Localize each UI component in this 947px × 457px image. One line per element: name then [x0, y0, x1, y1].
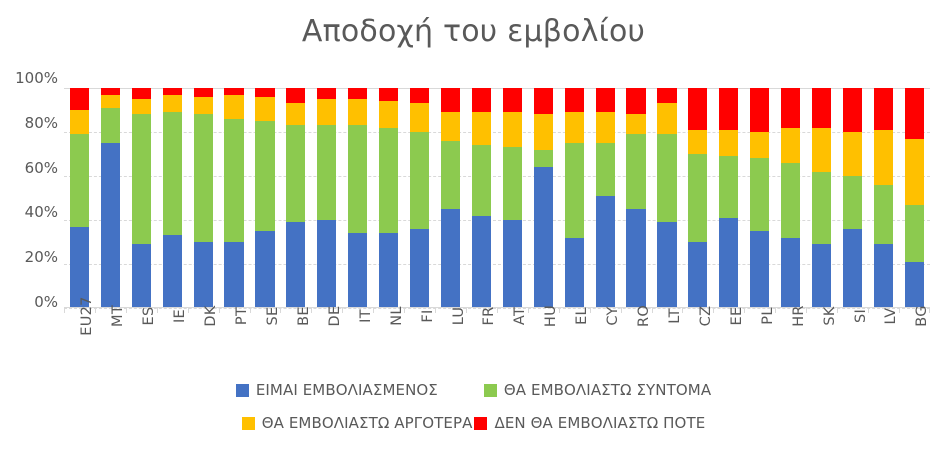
bar-stack[interactable] — [688, 88, 707, 308]
legend-row-bottom: ΘΑ ΕΜΒΟΛΙΑΣΤΩ ΑΡΓΟΤΕΡΑΔΕΝ ΘΑ ΕΜΒΟΛΙΑΣΤΩ … — [0, 414, 947, 432]
bar-segment[interactable] — [874, 130, 893, 185]
bar-segment[interactable] — [441, 141, 460, 209]
bar-segment[interactable] — [534, 150, 553, 168]
bar-segment[interactable] — [843, 132, 862, 176]
bar-segment[interactable] — [132, 244, 151, 308]
bar-segment[interactable] — [812, 172, 831, 245]
bar-segment[interactable] — [719, 218, 738, 308]
x-label-cell: CZ — [682, 314, 713, 374]
x-tick-label: BG — [914, 305, 930, 327]
bar-segment[interactable] — [348, 233, 367, 308]
bar-column[interactable] — [466, 88, 497, 308]
bar-segment[interactable] — [132, 99, 151, 114]
bar-column[interactable] — [713, 88, 744, 308]
x-label-cell: NL — [373, 314, 404, 374]
bar-segment[interactable] — [503, 147, 522, 220]
bar-stack[interactable] — [410, 88, 429, 308]
bar-segment[interactable] — [379, 88, 398, 101]
bar-column[interactable] — [250, 88, 281, 308]
bar-segment[interactable] — [224, 88, 243, 95]
bar-segment[interactable] — [874, 185, 893, 244]
x-tick-label: PL — [760, 307, 776, 324]
bar-segment[interactable] — [719, 88, 738, 130]
bar-segment[interactable] — [472, 216, 491, 308]
bar-segment[interactable] — [441, 88, 460, 112]
x-tick-label: EE — [729, 307, 745, 326]
bar-segment[interactable] — [657, 222, 676, 308]
bar-column[interactable] — [682, 88, 713, 308]
legend-item[interactable]: ΘΑ ΕΜΒΟΛΙΑΣΤΩ ΑΡΓΟΤΕΡΑ — [242, 414, 473, 432]
chart-legend: ΕΙΜΑΙ ΕΜΒΟΛΙΑΣΜΕΝΟΣΘΑ ΕΜΒΟΛΙΑΣΤΩ ΣΥΝΤΟΜΑ… — [0, 381, 947, 453]
x-tick-label: CZ — [698, 306, 714, 327]
bar-segment[interactable] — [781, 163, 800, 238]
x-label-cell: AT — [497, 314, 528, 374]
bar-segment[interactable] — [750, 158, 769, 231]
bar-stack[interactable] — [348, 88, 367, 308]
x-tick-label: DK — [203, 305, 219, 326]
plot-area — [64, 88, 930, 308]
bar-segment[interactable] — [472, 88, 491, 112]
bar-segment[interactable] — [286, 125, 305, 222]
bar-segment[interactable] — [255, 97, 274, 121]
bar-segment[interactable] — [410, 132, 429, 229]
x-label-cell: LT — [652, 314, 683, 374]
bar-segment[interactable] — [596, 112, 615, 143]
bar-stack[interactable] — [781, 88, 800, 308]
bar-column[interactable] — [868, 88, 899, 308]
legend-label: ΘΑ ΕΜΒΟΛΙΑΣΤΩ ΑΡΓΟΤΕΡΑ — [262, 414, 473, 432]
bar-column[interactable] — [528, 88, 559, 308]
legend-item[interactable]: ΔΕΝ ΘΑ ΕΜΒΟΛΙΑΣΤΩ ΠΟΤΕ — [474, 414, 705, 432]
bar-segment[interactable] — [255, 88, 274, 97]
x-label-cell: EE — [713, 314, 744, 374]
bar-column[interactable] — [64, 88, 95, 308]
bar-segment[interactable] — [410, 88, 429, 103]
legend-label: ΕΙΜΑΙ ΕΜΒΟΛΙΑΣΜΕΝΟΣ — [256, 381, 438, 399]
legend-swatch-icon — [484, 384, 497, 397]
x-label-cell: SI — [837, 314, 868, 374]
bar-column[interactable] — [404, 88, 435, 308]
x-tick-label: BE — [296, 306, 312, 326]
bar-column[interactable] — [590, 88, 621, 308]
x-label-cell: PL — [744, 314, 775, 374]
x-tick-label: MT — [110, 305, 126, 327]
bar-segment[interactable] — [163, 112, 182, 235]
x-tick-label: FR — [481, 306, 497, 325]
bar-segment[interactable] — [626, 134, 645, 209]
bar-segment[interactable] — [565, 112, 584, 143]
bar-segment[interactable] — [596, 143, 615, 196]
x-tick-label: HR — [791, 305, 807, 327]
x-tick-label: EU27 — [79, 296, 95, 335]
bar-segment[interactable] — [905, 88, 924, 139]
bar-segment[interactable] — [688, 242, 707, 308]
bar-stack[interactable] — [534, 88, 553, 308]
legend-swatch-icon — [236, 384, 249, 397]
legend-label: ΔΕΝ ΘΑ ΕΜΒΟΛΙΑΣΤΩ ΠΟΤΕ — [494, 414, 705, 432]
bar-segment[interactable] — [657, 134, 676, 222]
x-tick-label: FI — [420, 309, 436, 322]
x-label-cell: CY — [590, 314, 621, 374]
bar-segment[interactable] — [503, 220, 522, 308]
x-label-cell: LV — [868, 314, 899, 374]
bar-stack[interactable] — [750, 88, 769, 308]
bar-stack[interactable] — [719, 88, 738, 308]
x-label-cell: MT — [95, 314, 126, 374]
x-label-cell: PT — [219, 314, 250, 374]
bar-column[interactable] — [806, 88, 837, 308]
x-tick-label: ES — [141, 307, 157, 326]
x-tick-label: AT — [512, 307, 528, 325]
bar-segment[interactable] — [348, 99, 367, 125]
x-label-cell: DK — [188, 314, 219, 374]
x-label-cell: ES — [126, 314, 157, 374]
bar-segment[interactable] — [534, 114, 553, 149]
bar-segment[interactable] — [812, 128, 831, 172]
bar-segment[interactable] — [596, 88, 615, 112]
bar-column[interactable] — [95, 88, 126, 308]
y-tick-label: 0% — [34, 293, 58, 311]
bar-segment[interactable] — [843, 176, 862, 229]
legend-swatch-icon — [242, 417, 255, 430]
bar-column[interactable] — [559, 88, 590, 308]
bar-stack[interactable] — [286, 88, 305, 308]
y-tick-label: 100% — [15, 69, 58, 87]
bar-segment[interactable] — [534, 88, 553, 114]
bar-segment[interactable] — [194, 114, 213, 242]
bar-segment[interactable] — [441, 209, 460, 308]
bar-column[interactable] — [497, 88, 528, 308]
x-tick-label: IT — [358, 309, 374, 323]
x-tick-label: LU — [451, 307, 467, 326]
bar-segment[interactable] — [348, 125, 367, 233]
x-tick-label: LV — [883, 307, 899, 324]
bar-segment[interactable] — [163, 235, 182, 308]
y-axis: 0%20%40%60%80%100% — [6, 78, 58, 302]
x-label-cell: HR — [775, 314, 806, 374]
bar-segment[interactable] — [688, 130, 707, 154]
x-tick-label: EL — [574, 307, 590, 325]
bar-stack[interactable] — [812, 88, 831, 308]
legend-item[interactable]: ΕΙΜΑΙ ΕΜΒΟΛΙΑΣΜΕΝΟΣ — [236, 381, 438, 399]
x-tick-label: HU — [543, 305, 559, 327]
bar-segment[interactable] — [688, 88, 707, 130]
bar-segment[interactable] — [286, 103, 305, 125]
bar-segment[interactable] — [688, 154, 707, 242]
bar-segment[interactable] — [132, 88, 151, 99]
bar-segment[interactable] — [255, 121, 274, 231]
x-label-cell: BE — [280, 314, 311, 374]
bar-segment[interactable] — [163, 95, 182, 113]
legend-label: ΘΑ ΕΜΒΟΛΙΑΣΤΩ ΣΥΝΤΟΜΑ — [504, 381, 711, 399]
bar-segment[interactable] — [348, 88, 367, 99]
bar-segment[interactable] — [657, 88, 676, 103]
bar-stack[interactable] — [565, 88, 584, 308]
bar-segment[interactable] — [534, 167, 553, 308]
bar-segment[interactable] — [626, 88, 645, 114]
x-tick-label: LT — [667, 308, 683, 324]
bars-layer — [64, 88, 930, 308]
bar-segment[interactable] — [503, 112, 522, 147]
bar-stack[interactable] — [472, 88, 491, 308]
bar-segment[interactable] — [317, 88, 336, 99]
x-tick-label: SE — [265, 307, 281, 326]
x-label-cell: IT — [342, 314, 373, 374]
y-tick-label: 40% — [25, 203, 58, 221]
chart-container: Αποδοχή του εμβολίου 0%20%40%60%80%100% … — [0, 0, 947, 457]
y-tick-label: 80% — [25, 114, 58, 132]
x-label-cell: SK — [806, 314, 837, 374]
bar-segment[interactable] — [781, 238, 800, 308]
bar-column[interactable] — [311, 88, 342, 308]
bar-segment[interactable] — [781, 128, 800, 163]
bar-segment[interactable] — [843, 229, 862, 308]
bar-segment[interactable] — [255, 231, 274, 308]
bar-segment[interactable] — [472, 112, 491, 145]
bar-segment[interactable] — [441, 112, 460, 141]
x-label-cell: EU27 — [64, 314, 95, 374]
x-label-cell: RO — [621, 314, 652, 374]
bar-segment[interactable] — [286, 88, 305, 103]
bar-segment[interactable] — [719, 156, 738, 218]
legend-item[interactable]: ΘΑ ΕΜΒΟΛΙΑΣΤΩ ΣΥΝΤΟΜΑ — [484, 381, 711, 399]
bar-segment[interactable] — [286, 222, 305, 308]
bar-segment[interactable] — [750, 132, 769, 158]
bar-segment[interactable] — [379, 128, 398, 234]
bar-segment[interactable] — [596, 196, 615, 308]
x-label-cell: SE — [250, 314, 281, 374]
bar-segment[interactable] — [905, 139, 924, 205]
bar-segment[interactable] — [410, 103, 429, 132]
bar-segment[interactable] — [719, 130, 738, 156]
bar-segment[interactable] — [224, 242, 243, 308]
bar-stack[interactable] — [657, 88, 676, 308]
x-axis-labels: EU27MTESIEDKPTSEBEDEITNLFILUFRATHUELCYRO… — [64, 314, 930, 374]
bar-segment[interactable] — [317, 220, 336, 308]
bar-stack[interactable] — [874, 88, 893, 308]
bar-segment[interactable] — [781, 88, 800, 128]
bar-segment[interactable] — [101, 108, 120, 143]
bar-column[interactable] — [775, 88, 806, 308]
bar-stack[interactable] — [255, 88, 274, 308]
legend-row-top: ΕΙΜΑΙ ΕΜΒΟΛΙΑΣΜΕΝΟΣΘΑ ΕΜΒΟΛΙΑΣΤΩ ΣΥΝΤΟΜΑ — [0, 381, 947, 399]
bar-segment[interactable] — [70, 110, 89, 134]
bar-segment[interactable] — [194, 242, 213, 308]
x-label-cell: IE — [157, 314, 188, 374]
x-tick-label: PT — [234, 307, 250, 325]
bar-column[interactable] — [126, 88, 157, 308]
bar-segment[interactable] — [874, 88, 893, 130]
bar-segment[interactable] — [565, 238, 584, 308]
bar-segment[interactable] — [379, 233, 398, 308]
plot-wrapper: 0%20%40%60%80%100% EU27MTESIEDKPTSEBEDEI… — [0, 0, 947, 375]
bar-segment[interactable] — [70, 88, 89, 110]
bar-segment[interactable] — [565, 143, 584, 238]
bar-segment[interactable] — [472, 145, 491, 215]
bar-segment[interactable] — [379, 101, 398, 127]
y-tick-label: 60% — [25, 159, 58, 177]
bar-segment[interactable] — [626, 114, 645, 134]
bar-stack[interactable] — [843, 88, 862, 308]
bar-segment[interactable] — [905, 205, 924, 262]
x-label-cell: FI — [404, 314, 435, 374]
bar-segment[interactable] — [101, 88, 120, 95]
bar-stack[interactable] — [317, 88, 336, 308]
x-label-cell: BG — [899, 314, 930, 374]
bar-column[interactable] — [621, 88, 652, 308]
x-tick-label: DE — [327, 306, 343, 327]
bar-stack[interactable] — [379, 88, 398, 308]
x-tick-label: CY — [605, 306, 621, 325]
bar-segment[interactable] — [224, 95, 243, 119]
bar-segment[interactable] — [410, 229, 429, 308]
bar-column[interactable] — [837, 88, 868, 308]
bar-segment[interactable] — [101, 143, 120, 308]
bar-column[interactable] — [373, 88, 404, 308]
x-tick-label: SK — [822, 306, 838, 325]
bar-column[interactable] — [219, 88, 250, 308]
x-label-cell: HU — [528, 314, 559, 374]
bar-segment[interactable] — [317, 99, 336, 125]
bar-segment[interactable] — [565, 88, 584, 112]
bar-column[interactable] — [744, 88, 775, 308]
bar-column[interactable] — [188, 88, 219, 308]
bar-stack[interactable] — [441, 88, 460, 308]
bar-column[interactable] — [435, 88, 466, 308]
bar-segment[interactable] — [132, 114, 151, 244]
x-label-cell: FR — [466, 314, 497, 374]
bar-stack[interactable] — [224, 88, 243, 308]
bar-stack[interactable] — [626, 88, 645, 308]
x-tick-label: RO — [636, 305, 652, 327]
bar-segment[interactable] — [163, 88, 182, 95]
bar-segment[interactable] — [905, 262, 924, 308]
y-tick-label: 20% — [25, 248, 58, 266]
x-label-cell: EL — [559, 314, 590, 374]
x-tick-label: NL — [389, 306, 405, 326]
bar-stack[interactable] — [503, 88, 522, 308]
bar-segment[interactable] — [224, 119, 243, 242]
bar-segment[interactable] — [812, 88, 831, 128]
bar-column[interactable] — [342, 88, 373, 308]
bar-segment[interactable] — [626, 209, 645, 308]
bar-segment[interactable] — [812, 244, 831, 308]
x-tick-label: SI — [853, 309, 869, 323]
bar-stack[interactable] — [101, 88, 120, 308]
legend-swatch-icon — [474, 417, 487, 430]
bar-stack[interactable] — [596, 88, 615, 308]
bar-segment[interactable] — [194, 97, 213, 115]
bar-stack[interactable] — [194, 88, 213, 308]
bar-stack[interactable] — [905, 88, 924, 308]
bar-column[interactable] — [652, 88, 683, 308]
bar-stack[interactable] — [163, 88, 182, 308]
bar-segment[interactable] — [657, 103, 676, 134]
bar-stack[interactable] — [70, 88, 89, 308]
bar-segment[interactable] — [70, 134, 89, 226]
x-label-cell: LU — [435, 314, 466, 374]
bar-segment[interactable] — [750, 88, 769, 132]
bar-segment[interactable] — [750, 231, 769, 308]
bar-segment[interactable] — [317, 125, 336, 220]
bar-segment[interactable] — [503, 88, 522, 112]
bar-column[interactable] — [899, 88, 930, 308]
x-tick-label: IE — [172, 309, 188, 323]
bar-stack[interactable] — [132, 88, 151, 308]
bar-segment[interactable] — [101, 95, 120, 108]
bar-column[interactable] — [280, 88, 311, 308]
bar-segment[interactable] — [874, 244, 893, 308]
x-label-cell: DE — [311, 314, 342, 374]
bar-segment[interactable] — [194, 88, 213, 97]
bar-segment[interactable] — [843, 88, 862, 132]
bar-column[interactable] — [157, 88, 188, 308]
